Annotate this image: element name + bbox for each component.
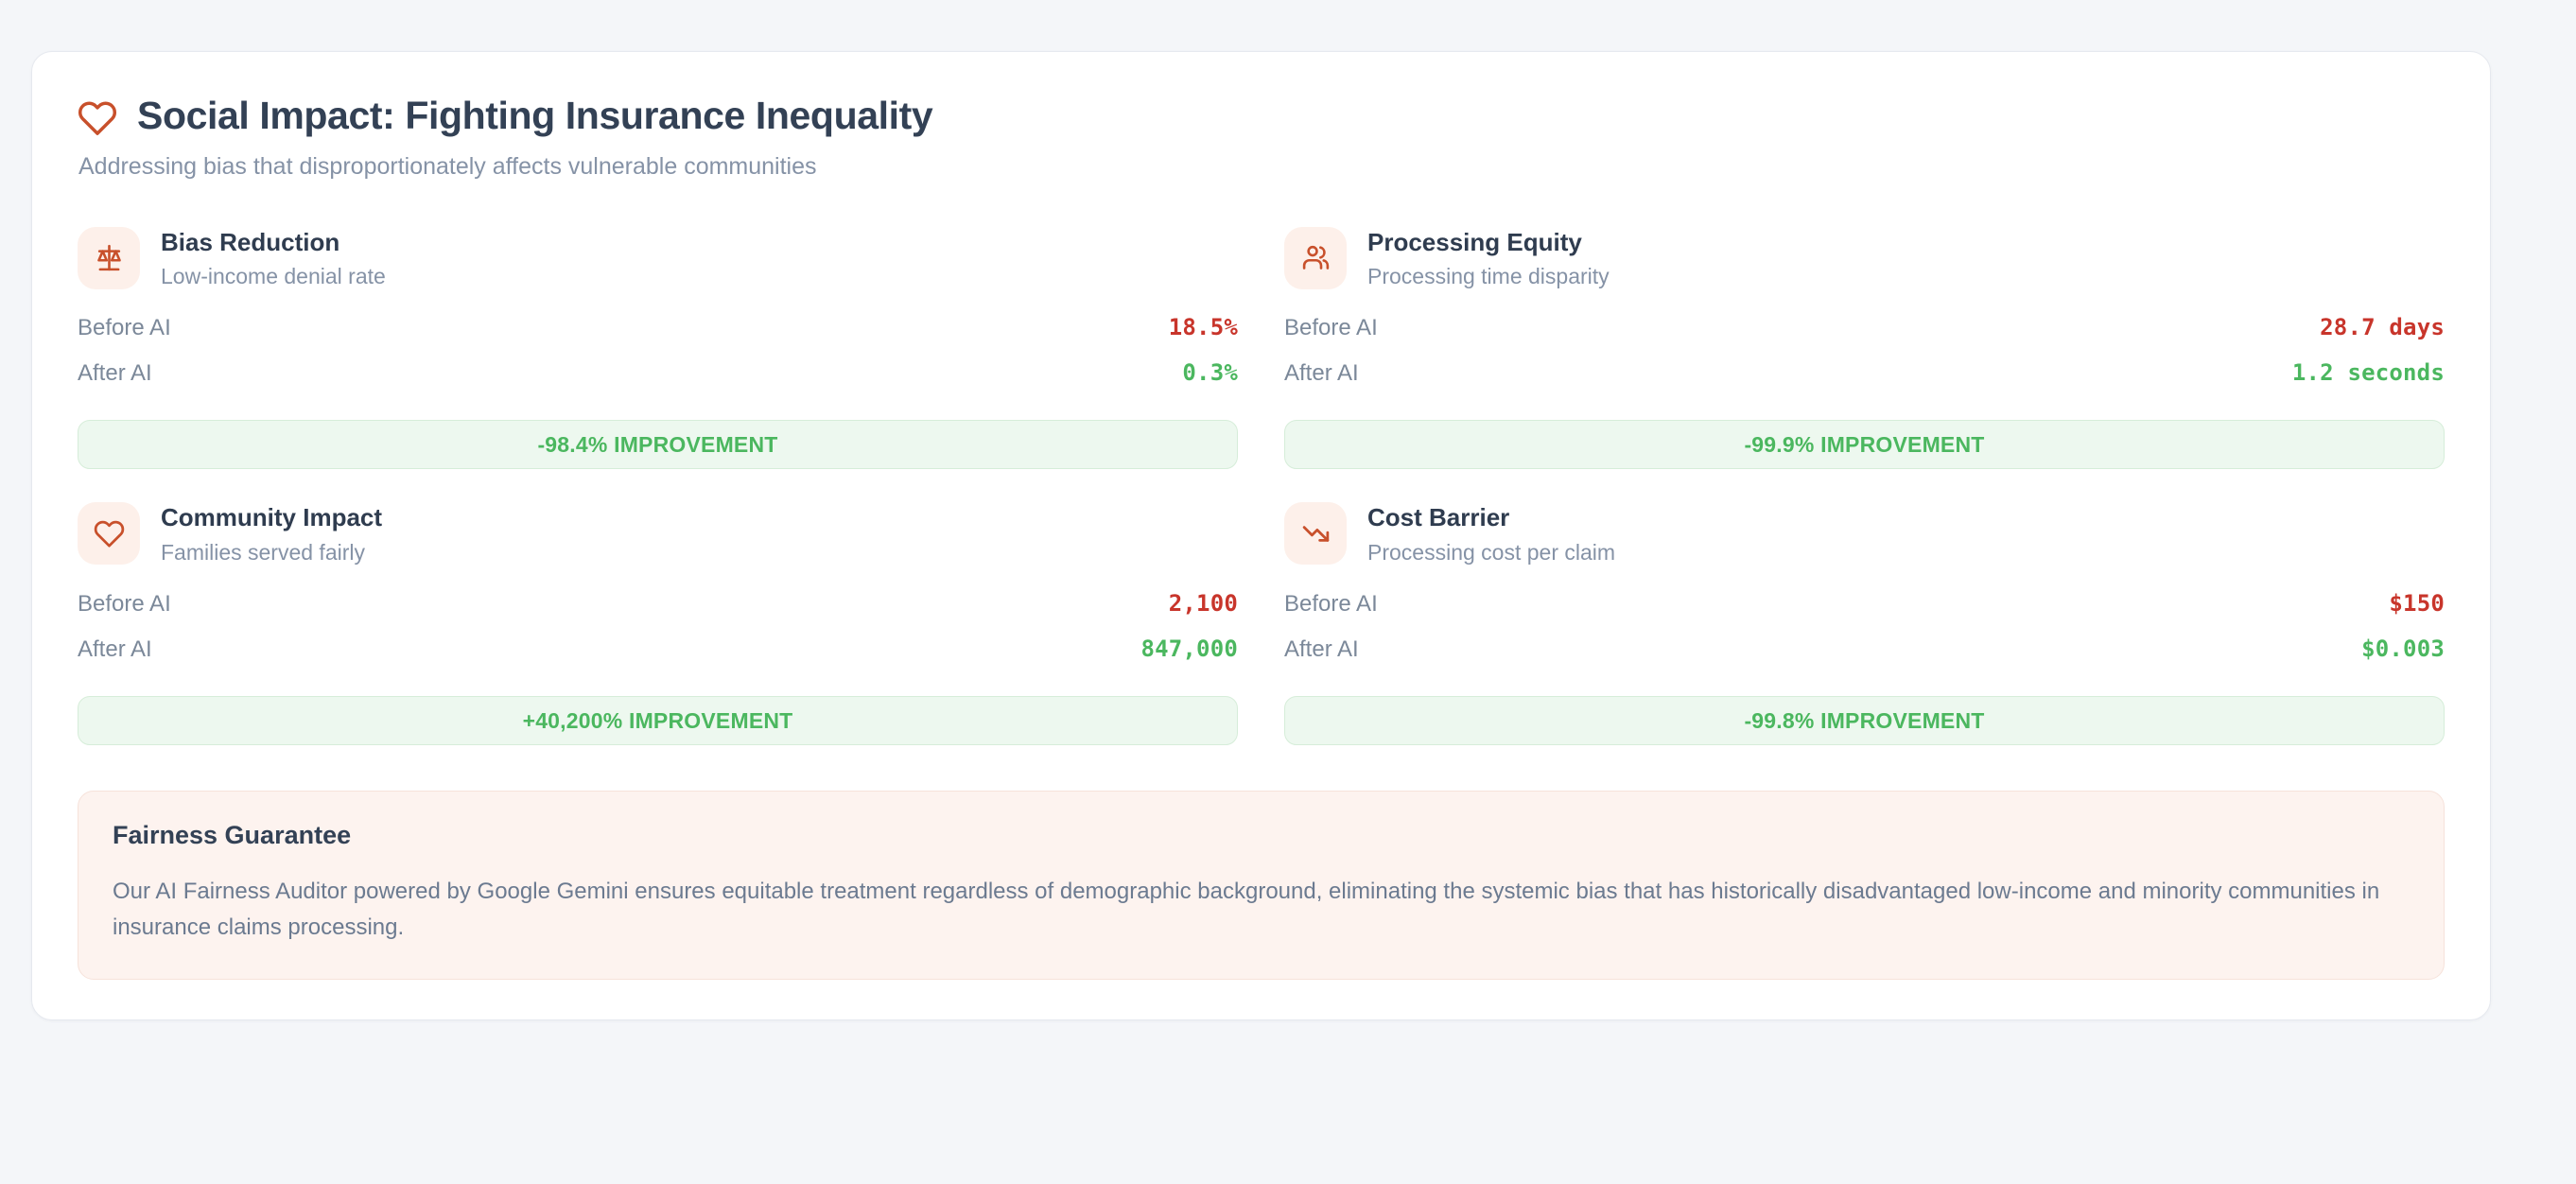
card-header: Social Impact: Fighting Insurance Inequa… (78, 94, 2445, 138)
page-title: Social Impact: Fighting Insurance Inequa… (137, 94, 932, 138)
page-root: Social Impact: Fighting Insurance Inequa… (0, 0, 2576, 1184)
row-label-before: Before AI (78, 317, 171, 340)
row-label-before: Before AI (78, 593, 171, 616)
row-value-after: $0.003 (2361, 637, 2445, 660)
row-label-after: After AI (1284, 362, 1359, 385)
row-value-before: 2,100 (1169, 592, 1238, 615)
metrics-grid: Bias Reduction Low-income denial rate Be… (78, 226, 2445, 746)
row-label-after: After AI (78, 362, 152, 385)
metric-row-before: Before AI 28.7 days (1284, 316, 2445, 361)
metric-header: Processing Equity Processing time dispar… (1284, 226, 2445, 290)
metric-header-text: Cost Barrier Processing cost per claim (1367, 501, 1615, 566)
metric-label: Community Impact (161, 503, 382, 531)
metric-label: Processing Equity (1367, 228, 1582, 256)
metric-label: Bias Reduction (161, 228, 339, 256)
metric-row-after: After AI 847,000 (78, 637, 1238, 683)
metric-header: Cost Barrier Processing cost per claim (1284, 501, 2445, 566)
metric-row-after: After AI 0.3% (78, 361, 1238, 407)
metric-header: Bias Reduction Low-income denial rate (78, 226, 1238, 290)
social-impact-card: Social Impact: Fighting Insurance Inequa… (31, 51, 2491, 1020)
metric-card-bias-reduction: Bias Reduction Low-income denial rate Be… (78, 226, 1238, 470)
fairness-guarantee-box: Fairness Guarantee Our AI Fairness Audit… (78, 791, 2445, 980)
metric-sublabel: Processing time disparity (1367, 264, 1610, 290)
metric-row-after: After AI $0.003 (1284, 637, 2445, 683)
metric-sublabel: Families served fairly (161, 540, 382, 566)
metric-rows: Before AI 18.5% After AI 0.3% (78, 316, 1238, 407)
scales-icon (78, 227, 140, 289)
metric-header-text: Processing Equity Processing time dispar… (1367, 226, 1610, 290)
improvement-badge: -99.8% IMPROVEMENT (1284, 696, 2445, 745)
metric-row-before: Before AI 18.5% (78, 316, 1238, 361)
metric-header-text: Community Impact Families served fairly (161, 501, 382, 566)
metric-rows: Before AI $150 After AI $0.003 (1284, 592, 2445, 683)
row-label-after: After AI (78, 638, 152, 661)
row-value-after: 0.3% (1182, 361, 1238, 384)
metric-sublabel: Low-income denial rate (161, 264, 386, 290)
row-label-after: After AI (1284, 638, 1359, 661)
metric-header-text: Bias Reduction Low-income denial rate (161, 226, 386, 290)
users-icon (1284, 227, 1347, 289)
metric-rows: Before AI 28.7 days After AI 1.2 seconds (1284, 316, 2445, 407)
row-value-after: 1.2 seconds (2292, 361, 2445, 384)
trending-down-icon (1284, 502, 1347, 565)
improvement-badge: -98.4% IMPROVEMENT (78, 420, 1238, 469)
row-label-before: Before AI (1284, 317, 1378, 340)
metric-header: Community Impact Families served fairly (78, 501, 1238, 566)
improvement-badge: +40,200% IMPROVEMENT (78, 696, 1238, 745)
metric-row-after: After AI 1.2 seconds (1284, 361, 2445, 407)
metric-sublabel: Processing cost per claim (1367, 540, 1615, 566)
heart-icon (78, 98, 117, 138)
metric-row-before: Before AI 2,100 (78, 592, 1238, 637)
metric-row-before: Before AI $150 (1284, 592, 2445, 637)
metric-card-cost-barrier: Cost Barrier Processing cost per claim B… (1284, 501, 2445, 745)
metric-card-community-impact: Community Impact Families served fairly … (78, 501, 1238, 745)
fairness-text: Our AI Fairness Auditor powered by Googl… (113, 874, 2410, 948)
fairness-title: Fairness Guarantee (113, 820, 2410, 850)
metric-label: Cost Barrier (1367, 503, 1509, 531)
metric-rows: Before AI 2,100 After AI 847,000 (78, 592, 1238, 683)
metric-card-processing-equity: Processing Equity Processing time dispar… (1284, 226, 2445, 470)
improvement-badge: -99.9% IMPROVEMENT (1284, 420, 2445, 469)
row-value-after: 847,000 (1140, 637, 1238, 660)
row-value-before: 28.7 days (2320, 316, 2445, 339)
row-label-before: Before AI (1284, 593, 1378, 616)
row-value-before: 18.5% (1169, 316, 1238, 339)
heart-icon (78, 502, 140, 565)
card-subtitle: Addressing bias that disproportionately … (78, 151, 2445, 183)
row-value-before: $150 (2389, 592, 2445, 615)
